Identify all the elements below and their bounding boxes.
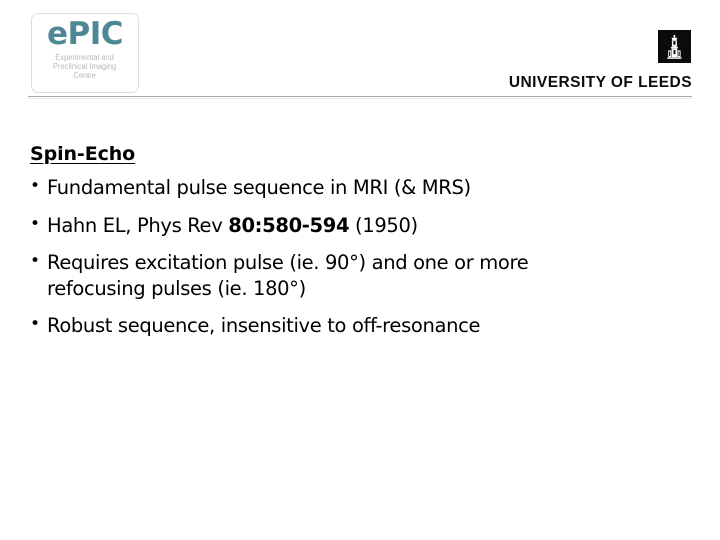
bullet-list: Fundamental pulse sequence in MRI (& MRS…: [28, 175, 648, 339]
bullet-item: Requires excitation pulse (ie. 90°) and …: [28, 250, 607, 301]
slide-canvas: ePIC Experimental and Preclinical Imagin…: [0, 0, 720, 540]
bullet-text: Robust sequence, insensitive to off-reso…: [47, 314, 480, 337]
header-divider: [28, 96, 692, 97]
university-of-leeds-logo: UNIVERSITY OF LEEDS: [492, 30, 692, 92]
university-name-text: UNIVERSITY OF LEEDS: [509, 74, 692, 92]
slide-content: Spin-Echo Fundamental pulse sequence in …: [28, 142, 648, 339]
bullet-text: Fundamental pulse sequence in MRI (& MRS…: [47, 176, 471, 199]
bullet-text-bold: 80:580-594: [228, 214, 349, 237]
bullet-text: Requires excitation pulse (ie. 90°) and …: [47, 251, 528, 300]
epic-subtitle: Experimental and Preclinical Imaging Cen…: [53, 53, 116, 81]
slide-header: ePIC Experimental and Preclinical Imagin…: [0, 0, 720, 100]
bullet-item: Robust sequence, insensitive to off-reso…: [28, 313, 607, 339]
epic-logo: ePIC Experimental and Preclinical Imagin…: [31, 13, 139, 93]
header-divider-shadow: [28, 98, 692, 99]
bullet-item: Hahn EL, Phys Rev 80:580-594 (1950): [28, 213, 607, 239]
leeds-tower-emblem-icon: [658, 30, 691, 63]
bullet-item: Fundamental pulse sequence in MRI (& MRS…: [28, 175, 607, 201]
bullet-text: Hahn EL, Phys Rev: [47, 214, 228, 237]
bullet-text: (1950): [349, 214, 418, 237]
epic-wordmark: ePIC: [47, 19, 123, 51]
slide-title: Spin-Echo: [30, 142, 648, 166]
